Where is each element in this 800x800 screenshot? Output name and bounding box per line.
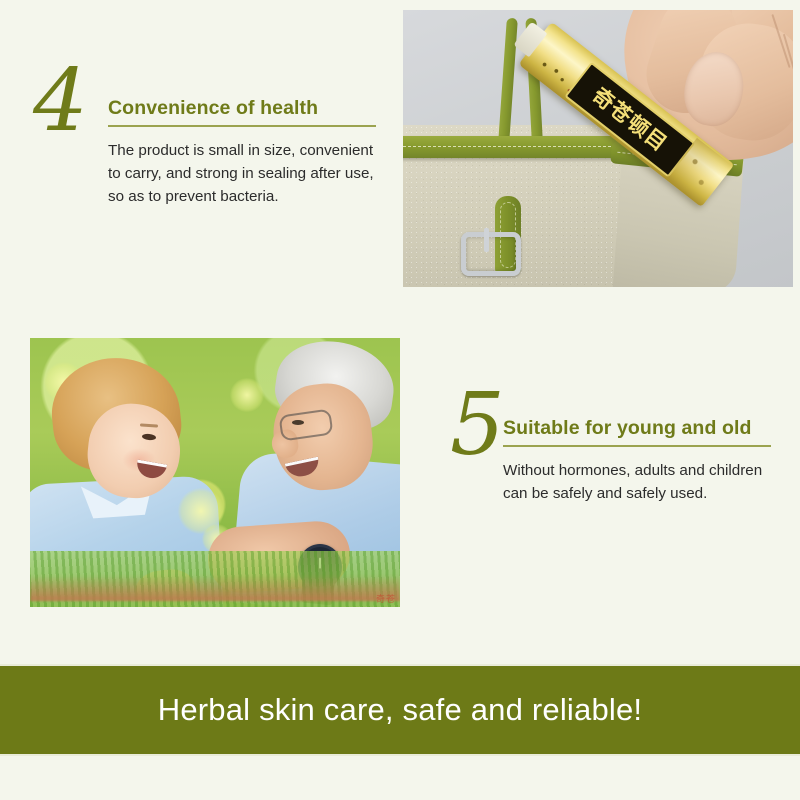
feature-title-5: Suitable for young and old	[503, 418, 771, 439]
feature-number-5: 5	[450, 382, 503, 468]
feature-body-4: The product is small in size, convenient…	[108, 140, 383, 208]
photo-watermark: 奇苍	[376, 592, 396, 605]
feature-body-5: Without hormones, adults and children ca…	[503, 460, 765, 506]
grandfather-eye	[292, 420, 304, 425]
feature-heading-4: Convenience of health	[108, 98, 376, 127]
soil-strip	[30, 575, 400, 601]
handbag-top-rim	[403, 136, 637, 158]
feature-heading-5: Suitable for young and old	[503, 418, 771, 447]
feature-number-4: 4	[33, 58, 86, 144]
handbag-metal-buckle	[461, 232, 521, 276]
feature-title-4: Convenience of health	[108, 98, 376, 119]
slogan-banner: Herbal skin care, safe and reliable!	[0, 664, 800, 756]
photo-boy-and-grandfather: 奇苍	[30, 338, 400, 607]
feature-block-4: 4 Convenience of health The product is s…	[0, 0, 400, 300]
infographic-page: 4 Convenience of health The product is s…	[0, 0, 800, 800]
title-underline-5	[503, 445, 771, 447]
title-underline-4	[108, 125, 376, 127]
bokeh-light	[230, 378, 264, 412]
feature-block-5: 5 Suitable for young and old Without hor…	[400, 330, 800, 630]
slogan-text: Herbal skin care, safe and reliable!	[158, 692, 643, 728]
photo-bag-with-product: 奇苍顿目	[403, 10, 793, 287]
